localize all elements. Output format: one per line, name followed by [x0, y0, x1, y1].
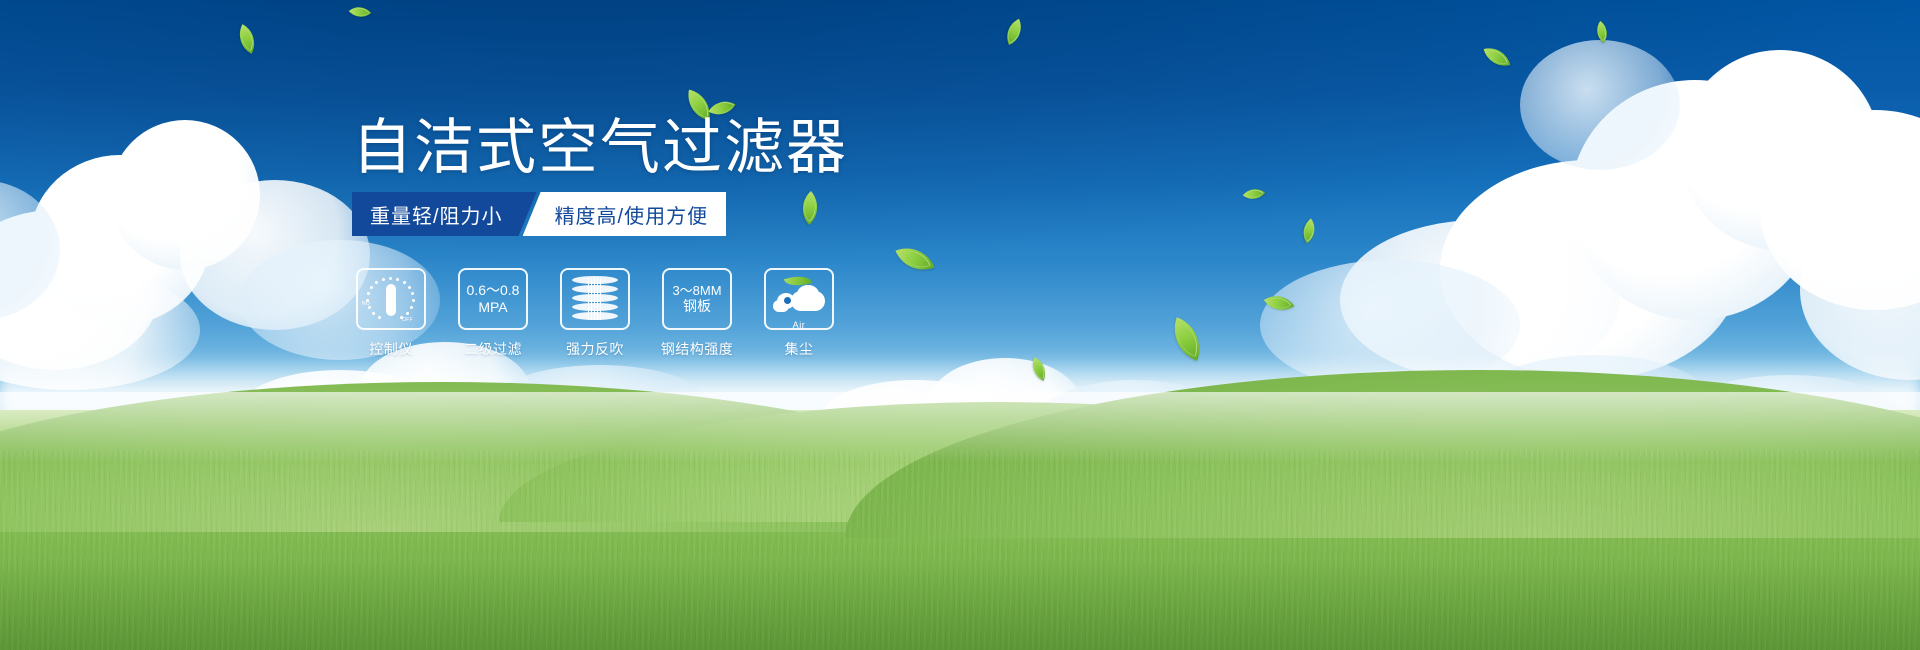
feature-label: 控制仪 — [369, 339, 413, 359]
tag-row: 重量轻/阻力小 精度高/使用方便 — [352, 192, 726, 236]
feature-label: 二级过滤 — [464, 339, 522, 359]
feature-text-line1: 0.6～0.8 — [467, 282, 520, 299]
tag-precision-convenience: 精度高/使用方便 — [523, 192, 727, 236]
banner-content: 自洁式空气过滤器 重量轻/阻力小 精度高/使用方便 — [0, 0, 1920, 650]
feature-label: 钢结构强度 — [661, 339, 734, 359]
feature-item-dust: Air 集尘 — [760, 268, 838, 359]
gauge-label-no: NO — [362, 301, 370, 307]
feature-text-line2: 钢板 — [683, 298, 711, 315]
feature-label: 强力反吹 — [566, 339, 624, 359]
feature-item-backblow: 强力反吹 — [556, 268, 634, 359]
tag-weight-resistance: 重量轻/阻力小 — [352, 192, 537, 236]
feature-label: 集尘 — [785, 339, 814, 359]
gauge-icon: NO OFF — [363, 276, 419, 322]
gauge-label-off: OFF — [402, 317, 413, 323]
feature-list: NO OFF 控制仪 0.6～0.8 MPA 二级过滤 — [352, 268, 838, 359]
feature-box: 0.6～0.8 MPA — [458, 268, 528, 330]
feature-item-filtration: 0.6～0.8 MPA 二级过滤 — [454, 268, 532, 359]
feature-text-line2: MPA — [478, 299, 507, 316]
air-label: Air — [771, 320, 827, 330]
feature-item-controller: NO OFF 控制仪 — [352, 268, 430, 359]
page-title: 自洁式空气过滤器 — [352, 118, 848, 178]
feature-item-steel: 3～8MM 钢板 钢结构强度 — [658, 268, 736, 359]
cloud-air-icon: Air — [771, 277, 827, 321]
feature-text-line1: 3～8MM — [672, 283, 721, 298]
feature-box — [560, 268, 630, 330]
feature-box: NO OFF — [356, 268, 426, 330]
feature-box: Air — [764, 268, 834, 330]
banner-hero: 自洁式空气过滤器 重量轻/阻力小 精度高/使用方便 — [0, 0, 1920, 650]
coil-filter-icon — [572, 276, 618, 322]
feature-box: 3～8MM 钢板 — [662, 268, 732, 330]
